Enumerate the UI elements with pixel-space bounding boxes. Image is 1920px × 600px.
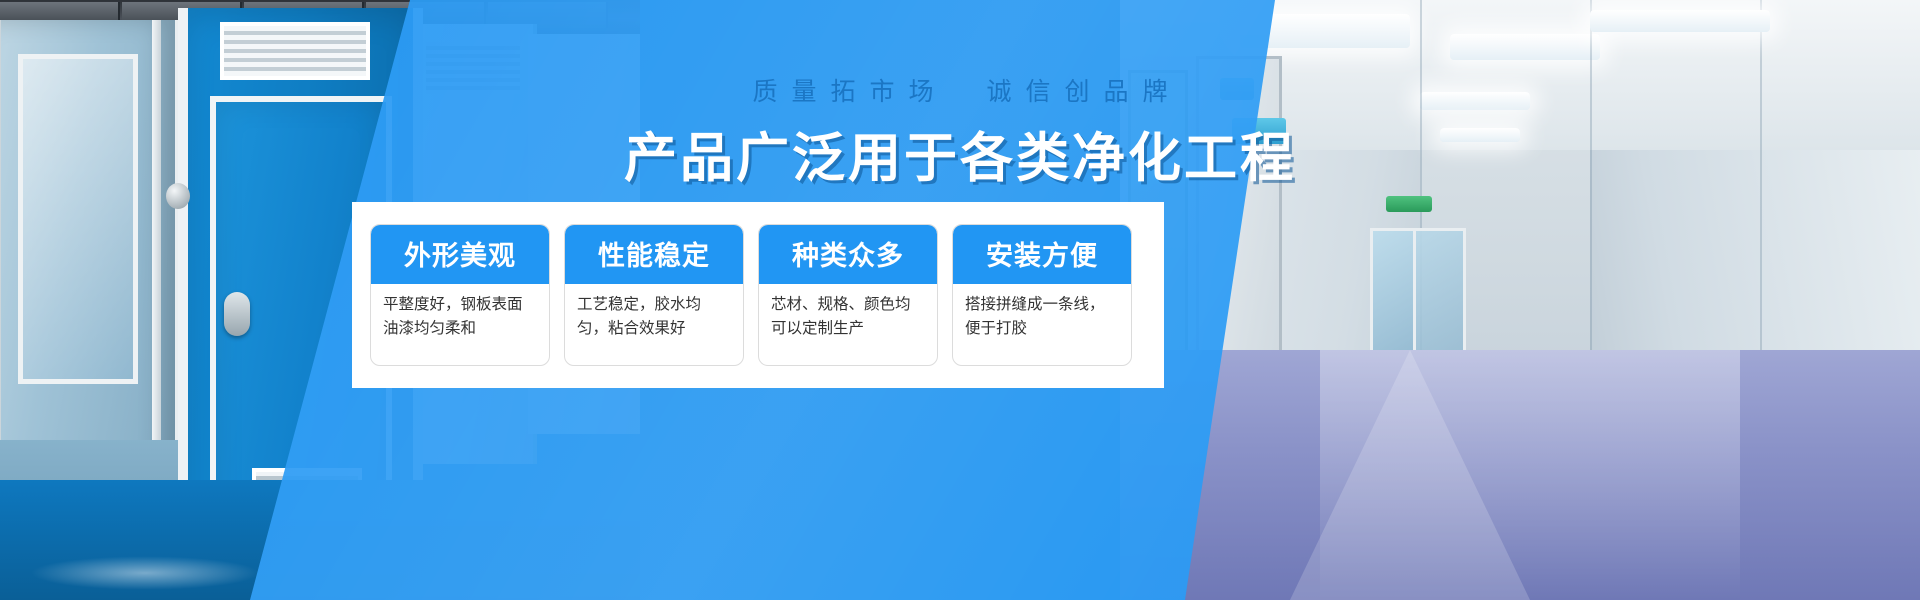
feature-card[interactable]: 外形美观 平整度好，钢板表面油漆均匀柔和 <box>370 224 550 366</box>
banner-headline: 产品广泛用于各类净化工程 <box>0 116 1920 192</box>
feature-card-text: 工艺稳定，胶水均匀，粘合效果好 <box>565 284 743 365</box>
feature-card-title: 外形美观 <box>371 225 549 284</box>
banner-content: 质量拓市场 诚信创品牌 产品广泛用于各类净化工程 外形美观 平整度好，钢板表面油… <box>0 0 1920 600</box>
feature-card[interactable]: 种类众多 芯材、规格、颜色均可以定制生产 <box>758 224 938 366</box>
feature-card-title: 性能稳定 <box>565 225 743 284</box>
banner-tagline: 质量拓市场 诚信创品牌 <box>0 72 1920 108</box>
feature-card-title: 安装方便 <box>953 225 1131 284</box>
feature-card-strip: 外形美观 平整度好，钢板表面油漆均匀柔和 性能稳定 工艺稳定，胶水均匀，粘合效果… <box>352 202 1164 388</box>
feature-card-text: 平整度好，钢板表面油漆均匀柔和 <box>371 284 549 365</box>
feature-card-text: 搭接拼缝成一条线，便于打胶 <box>953 284 1131 365</box>
feature-card[interactable]: 安装方便 搭接拼缝成一条线，便于打胶 <box>952 224 1132 366</box>
promo-banner: 质量拓市场 诚信创品牌 产品广泛用于各类净化工程 外形美观 平整度好，钢板表面油… <box>0 0 1920 600</box>
feature-card-text: 芯材、规格、颜色均可以定制生产 <box>759 284 937 365</box>
feature-card-title: 种类众多 <box>759 225 937 284</box>
feature-card[interactable]: 性能稳定 工艺稳定，胶水均匀，粘合效果好 <box>564 224 744 366</box>
